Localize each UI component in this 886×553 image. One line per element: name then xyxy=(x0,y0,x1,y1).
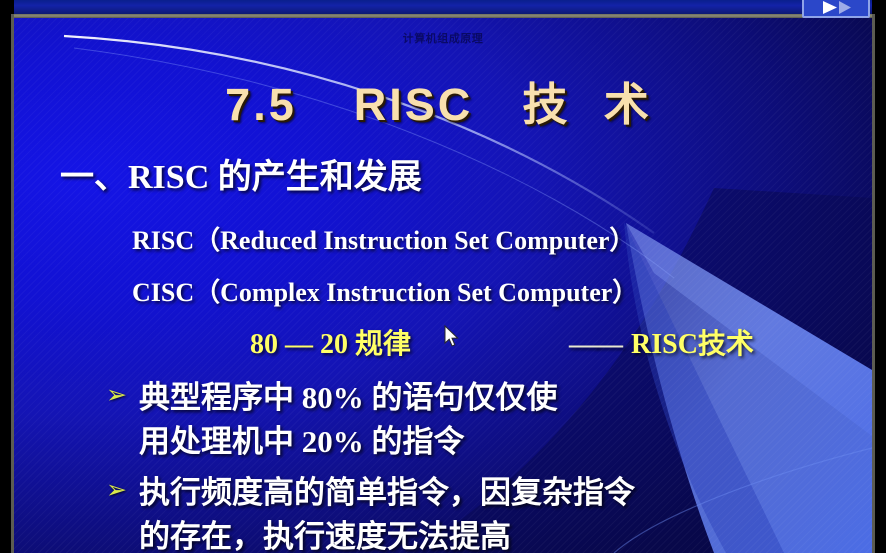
rule-conclusion-label: RISC技术 xyxy=(631,329,754,360)
bullet-item-1: ➢ 典型程序中 80% 的语句仅仅使 用处理机中 20% 的指令 xyxy=(106,376,557,464)
section-heading: 一、RISC 的产生和发展 xyxy=(60,149,422,198)
play-triangle-icon xyxy=(813,0,859,14)
play-button[interactable] xyxy=(802,0,870,18)
definition-risc: RISC（Reduced Instruction Set Computer） xyxy=(132,220,635,257)
rule-conclusion: ——RISC技术 xyxy=(569,322,754,362)
bullet-text-2: 执行频度高的简单指令，因复杂指令 的存在，执行速度无法提高 xyxy=(139,471,635,553)
definition-cisc: CISC（Complex Instruction Set Computer） xyxy=(132,272,638,309)
video-player-frame: 计算机组成原理 7.5 RISC 技 术 一、RISC 的产生和发展 RISC（… xyxy=(0,0,886,553)
frame-inner-bevel-right xyxy=(872,14,875,553)
arrow-bullet-icon: ➢ xyxy=(106,376,127,407)
rule-label-80-20: 80 — 20 规律 xyxy=(250,322,411,362)
bullet-item-2: ➢ 执行频度高的简单指令，因复杂指令 的存在，执行速度无法提高 xyxy=(106,471,635,553)
previous-slide-strip xyxy=(14,0,872,14)
bullet-text-1: 典型程序中 80% 的语句仅仅使 用处理机中 20% 的指令 xyxy=(139,376,558,464)
arrow-bullet-icon: ➢ xyxy=(106,471,127,502)
presentation-slide: 计算机组成原理 7.5 RISC 技 术 一、RISC 的产生和发展 RISC（… xyxy=(14,18,872,553)
rule-dash: —— xyxy=(569,329,621,360)
